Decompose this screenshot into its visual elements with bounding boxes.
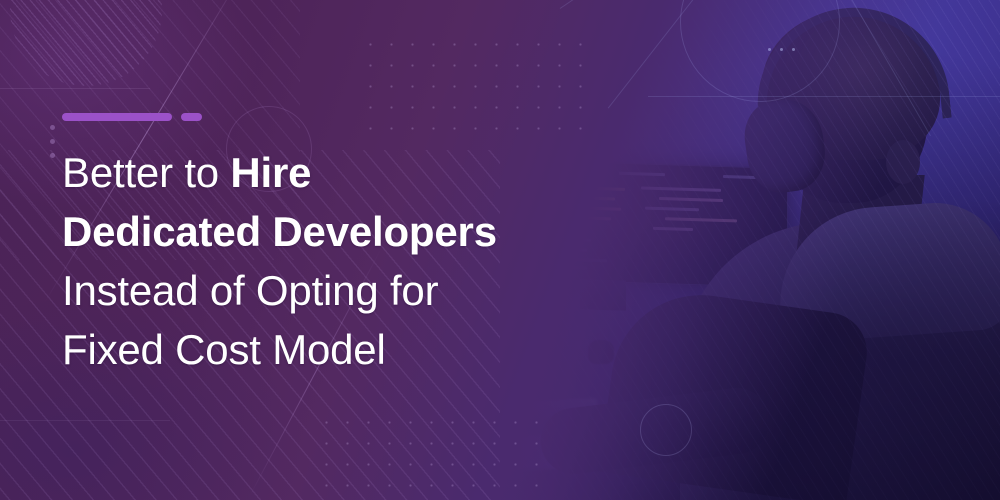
circle-outline-decoration-bottom [640,404,692,456]
accent-divider [62,113,202,121]
accent-bar [62,113,172,121]
hero-banner: Better to Hire Dedicated Developers Inst… [0,0,1000,500]
headline-line-1-regular: Better to [62,149,230,196]
headline-line-2: Dedicated Developers [62,202,622,261]
headline-line-3: Instead of Opting for [62,261,622,320]
dot-icon [780,48,783,51]
three-dots-decoration [768,48,795,51]
dot-icon [768,48,771,51]
headline-line-1: Better to Hire [62,143,622,202]
headline-line-1-bold: Hire [230,149,311,196]
dot-icon [50,153,55,158]
hero-content: Better to Hire Dedicated Developers Inst… [0,0,620,500]
guide-line-horizontal [648,96,1000,97]
page-title: Better to Hire Dedicated Developers Inst… [62,143,622,379]
dot-icon [50,139,55,144]
side-dots-decoration [50,125,55,158]
headline-line-4: Fixed Cost Model [62,320,622,379]
dot-icon [50,125,55,130]
accent-dash [181,113,202,121]
dot-icon [792,48,795,51]
